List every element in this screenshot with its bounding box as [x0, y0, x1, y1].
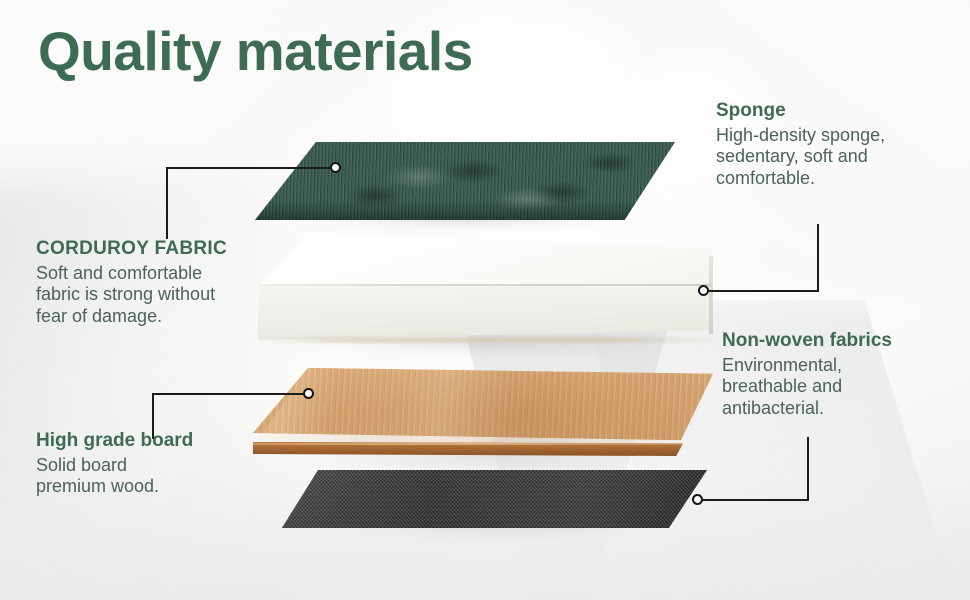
foam-sponge-layer	[258, 232, 713, 340]
callout-board-title: High grade board	[36, 430, 193, 452]
foam-front-face	[258, 285, 713, 340]
callout-sponge-body: High-density sponge, sedentary, soft and…	[716, 125, 885, 188]
callout-sponge: Sponge High-density sponge, sedentary, s…	[716, 100, 885, 189]
wood-edge-highlight	[253, 443, 685, 445]
non-woven-fabric-layer	[282, 470, 707, 528]
leader-horizontal-segment	[166, 167, 336, 169]
leader-vertical-segment	[166, 167, 168, 239]
callout-sponge-title: Sponge	[716, 100, 885, 122]
leader-vertical-segment	[817, 224, 819, 292]
callout-corduroy-title: CORDUROY FABRIC	[36, 238, 227, 260]
leader-horizontal-segment	[152, 393, 309, 395]
callout-board-body: Solid board premium wood.	[36, 455, 193, 497]
non-woven-sheen	[282, 470, 707, 528]
callout-corduroy-body: Soft and comfortable fabric is strong wi…	[36, 263, 227, 326]
leader-anchor-dot	[303, 388, 314, 399]
foam-right-face	[709, 256, 713, 334]
leader-horizontal-segment	[703, 290, 819, 292]
callout-non-woven-title: Non-woven fabrics	[722, 330, 892, 352]
corduroy-surface	[255, 142, 675, 220]
infographic-canvas: Quality materials	[0, 0, 970, 600]
callout-non-woven: Non-woven fabrics Environmental, breatha…	[722, 330, 892, 419]
foam-base-line	[258, 337, 713, 343]
wood-board-layer	[253, 368, 713, 456]
page-title: Quality materials	[38, 24, 473, 79]
leader-anchor-dot	[698, 285, 709, 296]
corduroy-fabric-layer	[255, 142, 675, 220]
callout-corduroy: CORDUROY FABRIC Soft and comfortable fab…	[36, 238, 227, 327]
leader-anchor-dot	[692, 494, 703, 505]
callout-non-woven-body: Environmental, breathable and antibacter…	[722, 355, 892, 418]
leader-anchor-dot	[330, 162, 341, 173]
leader-horizontal-segment	[697, 499, 809, 501]
callout-board: High grade board Solid board premium woo…	[36, 430, 193, 498]
foam-top-face	[258, 232, 713, 288]
corduroy-tuft	[444, 159, 503, 182]
leader-vertical-segment	[807, 437, 809, 501]
foam-edge-seam	[258, 284, 713, 286]
corduroy-edge-shading	[255, 200, 675, 220]
